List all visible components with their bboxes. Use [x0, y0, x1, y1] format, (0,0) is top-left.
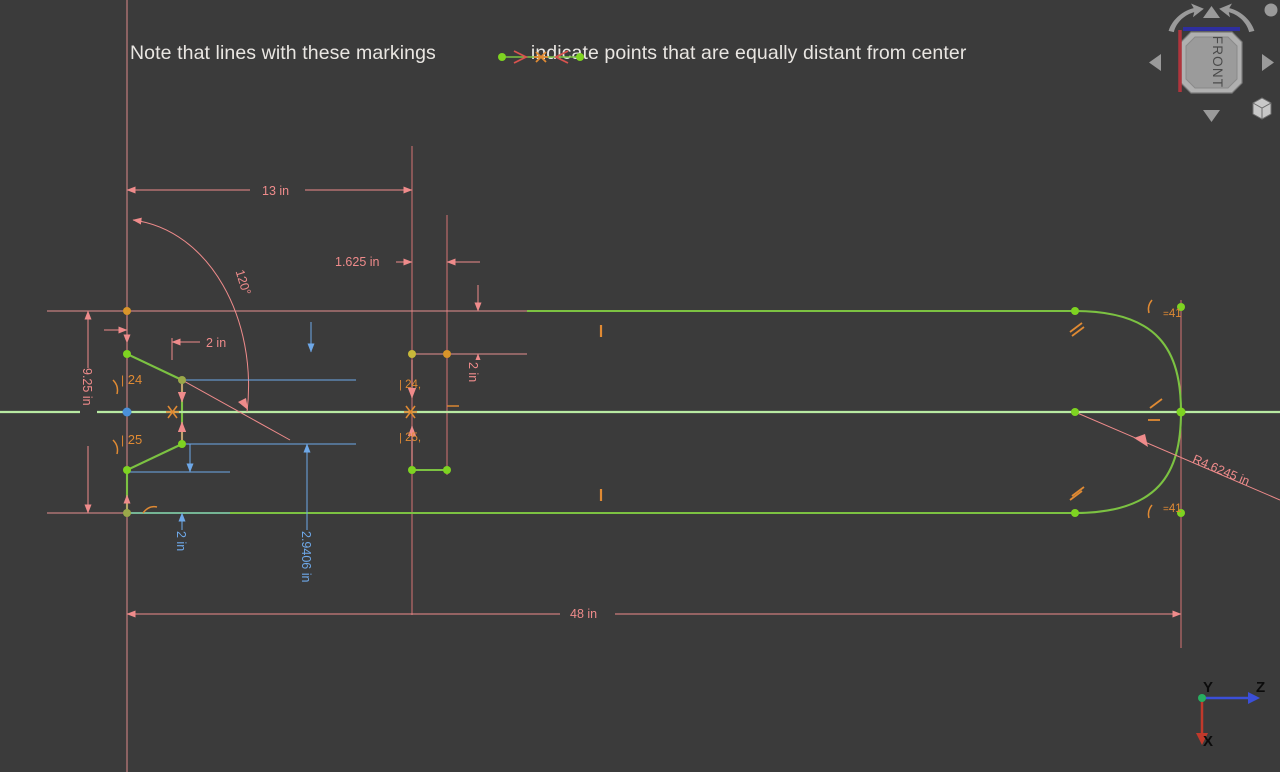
- dimension-label-2in-left[interactable]: 2 in: [206, 336, 226, 350]
- home-sphere-icon: [1265, 4, 1278, 17]
- dimension-label-2in-mid[interactable]: 2 in: [466, 362, 480, 382]
- sketch-geometry-canvas[interactable]: [0, 0, 1280, 772]
- constraint-label-41-top[interactable]: =41: [1163, 308, 1182, 320]
- dimension-label-1-625in[interactable]: 1.625 in: [335, 255, 379, 269]
- equal-distance-marker-icon: [496, 48, 586, 66]
- constraint-label-25-mid[interactable]: | 25,: [399, 432, 421, 444]
- axis-label-y: Y: [1203, 679, 1213, 696]
- view-cube-face-label[interactable]: FRONT: [1191, 35, 1245, 89]
- cad-sketch-viewport[interactable]: Note that lines with these markingsindic…: [0, 0, 1280, 772]
- dimension-2in-left[interactable]: [127, 338, 200, 360]
- construction-lines: [127, 0, 1181, 772]
- axis-label-z: Z: [1256, 679, 1265, 696]
- dimension-label-48in[interactable]: 48 in: [570, 607, 597, 621]
- constraint-label-24-left[interactable]: | 24: [121, 372, 142, 387]
- constraint-number: 25,: [405, 432, 421, 444]
- constraint-number: 25: [128, 432, 142, 447]
- dimension-label-2-9406in[interactable]: 2.9406 in: [299, 531, 313, 582]
- arrow-up-icon: [1203, 6, 1220, 18]
- dimension-48in[interactable]: [127, 606, 1181, 623]
- constraint-number: 41: [1169, 308, 1182, 320]
- constraint-label-41-bottom[interactable]: =41: [1163, 503, 1182, 515]
- dimension-120deg[interactable]: [133, 220, 290, 440]
- constraint-number: 24: [128, 372, 142, 387]
- dimension-label-2in-ref[interactable]: 2 in: [174, 531, 188, 551]
- cube-icon: [1253, 98, 1271, 119]
- dimension-9-25in[interactable]: [80, 311, 97, 513]
- note-text-after: indicate points that are equally distant…: [531, 42, 967, 64]
- axis-label-x: X: [1203, 733, 1213, 750]
- constraint-number: 41: [1169, 503, 1182, 515]
- note-text-before: Note that lines with these markings: [130, 42, 436, 64]
- arrow-down-icon: [1203, 110, 1220, 122]
- constraint-label-25-left[interactable]: | 25: [121, 432, 142, 447]
- reference-dimensions[interactable]: [127, 322, 356, 530]
- dimension-radius[interactable]: [1075, 412, 1280, 500]
- constraint-label-24-mid[interactable]: | 24,: [399, 379, 421, 391]
- dimension-label-13in[interactable]: 13 in: [262, 184, 289, 198]
- dimension-2in-mid[interactable]: [464, 285, 482, 400]
- sketch-points[interactable]: [123, 303, 1186, 517]
- constraint-glyphs[interactable]: [113, 300, 1162, 518]
- arrow-left-icon: [1149, 54, 1161, 71]
- constraint-number: 24,: [405, 379, 421, 391]
- dimension-label-9-25in[interactable]: 9.25 in: [80, 368, 94, 406]
- arrow-right-icon: [1262, 54, 1274, 71]
